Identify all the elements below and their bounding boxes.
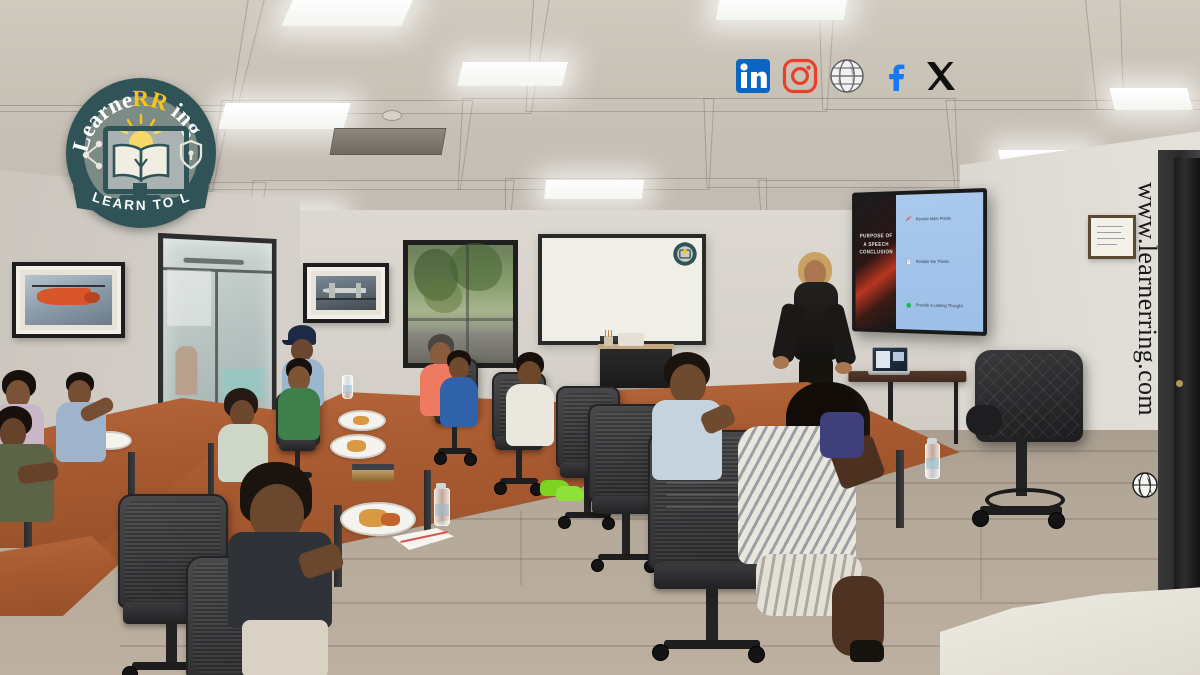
water-bottle bbox=[925, 443, 940, 479]
attendee bbox=[278, 358, 324, 440]
green-dot-icon bbox=[906, 301, 912, 309]
shoe bbox=[556, 486, 584, 501]
globe-icon bbox=[1132, 472, 1158, 498]
social-icon-bar bbox=[735, 58, 959, 94]
linkedin-icon[interactable] bbox=[735, 58, 771, 94]
chart-line-icon bbox=[906, 215, 912, 223]
framed-photo-helicopter bbox=[12, 262, 125, 338]
purple-bag bbox=[820, 412, 864, 458]
attendee bbox=[652, 352, 728, 484]
logo-tagline-banner: LEARN TO LEAD bbox=[71, 180, 211, 224]
attendee bbox=[504, 352, 556, 444]
bottle-cap bbox=[927, 438, 937, 444]
water-bottle bbox=[342, 375, 353, 399]
slide-title-panel bbox=[855, 195, 895, 329]
paper-plate bbox=[338, 410, 386, 431]
slide-bullet-3: Provide a Lasting Thought bbox=[906, 301, 963, 310]
attendee-foreground-left bbox=[224, 462, 344, 674]
wall-mounted-tv: Review Main Points Restate the Thesis Pr… bbox=[852, 188, 987, 336]
pencils bbox=[605, 330, 612, 337]
attendee bbox=[438, 350, 480, 426]
slide-bullet-1: Review Main Points bbox=[906, 214, 951, 223]
attendee-foreground-right bbox=[738, 382, 888, 662]
pencil-cup bbox=[604, 336, 613, 346]
stool-armrest bbox=[966, 405, 1002, 435]
slide-bullet-1-text: Review Main Points bbox=[916, 215, 951, 221]
facebook-icon[interactable] bbox=[876, 58, 912, 94]
slide-title: PURPOSE OF A SPEECH CONCLUSION bbox=[859, 233, 893, 258]
paper-plate bbox=[340, 502, 416, 536]
ceiling-light-panel bbox=[1109, 88, 1192, 110]
stool-wheel bbox=[972, 510, 989, 527]
stool-post bbox=[1016, 436, 1027, 496]
document-icon bbox=[906, 258, 912, 266]
slide-bullet-2: Restate the Thesis bbox=[906, 258, 949, 266]
whiteboard bbox=[538, 234, 706, 345]
framed-photo-osprey bbox=[303, 263, 389, 323]
open-book-icon bbox=[110, 141, 172, 183]
paper-plate bbox=[330, 434, 386, 459]
svg-text:RR: RR bbox=[132, 86, 171, 116]
instagram-icon[interactable] bbox=[782, 58, 818, 94]
door-knob[interactable] bbox=[1176, 380, 1183, 387]
presenter bbox=[775, 252, 855, 397]
slide-bullet-3-text: Provide a Lasting Thought bbox=[916, 303, 963, 309]
laptop-keyboard-base bbox=[868, 371, 910, 375]
slide-body-panel: Review Main Points Restate the Thesis Pr… bbox=[896, 192, 983, 332]
smoke-detector-icon bbox=[382, 110, 402, 121]
share-node-icon bbox=[80, 138, 104, 172]
cabinet-supply-box bbox=[618, 333, 644, 346]
ceiling-air-vent bbox=[330, 128, 447, 155]
framed-certificate bbox=[1088, 215, 1136, 259]
bottle-cap bbox=[436, 483, 446, 489]
table-leg bbox=[896, 450, 904, 528]
classroom-photo: Review Main Points Restate the Thesis Pr… bbox=[0, 0, 1200, 675]
ceiling-light-panel bbox=[716, 0, 849, 20]
attendee bbox=[0, 406, 64, 526]
slide-bullet-2-text: Restate the Thesis bbox=[916, 259, 949, 264]
shield-icon bbox=[179, 140, 203, 170]
water-bottle bbox=[434, 488, 450, 526]
ceiling-light-panel bbox=[218, 103, 350, 129]
website-globe-icon[interactable] bbox=[829, 58, 865, 94]
ceiling-light-panel bbox=[544, 180, 644, 199]
attendee bbox=[56, 372, 110, 464]
book-cover bbox=[352, 464, 394, 470]
desk-leg bbox=[954, 382, 958, 444]
website-url: www.learnerring.com bbox=[1132, 182, 1162, 416]
ceiling-light-panel bbox=[281, 0, 414, 26]
x-twitter-icon[interactable] bbox=[923, 58, 959, 94]
stool-wheel bbox=[1048, 512, 1065, 529]
learnerring-logo: Learne RR ing bbox=[66, 78, 216, 228]
presenter-laptop bbox=[872, 347, 908, 373]
ceiling-light-panel bbox=[457, 62, 568, 86]
logo-name-part2: RR bbox=[132, 86, 171, 116]
